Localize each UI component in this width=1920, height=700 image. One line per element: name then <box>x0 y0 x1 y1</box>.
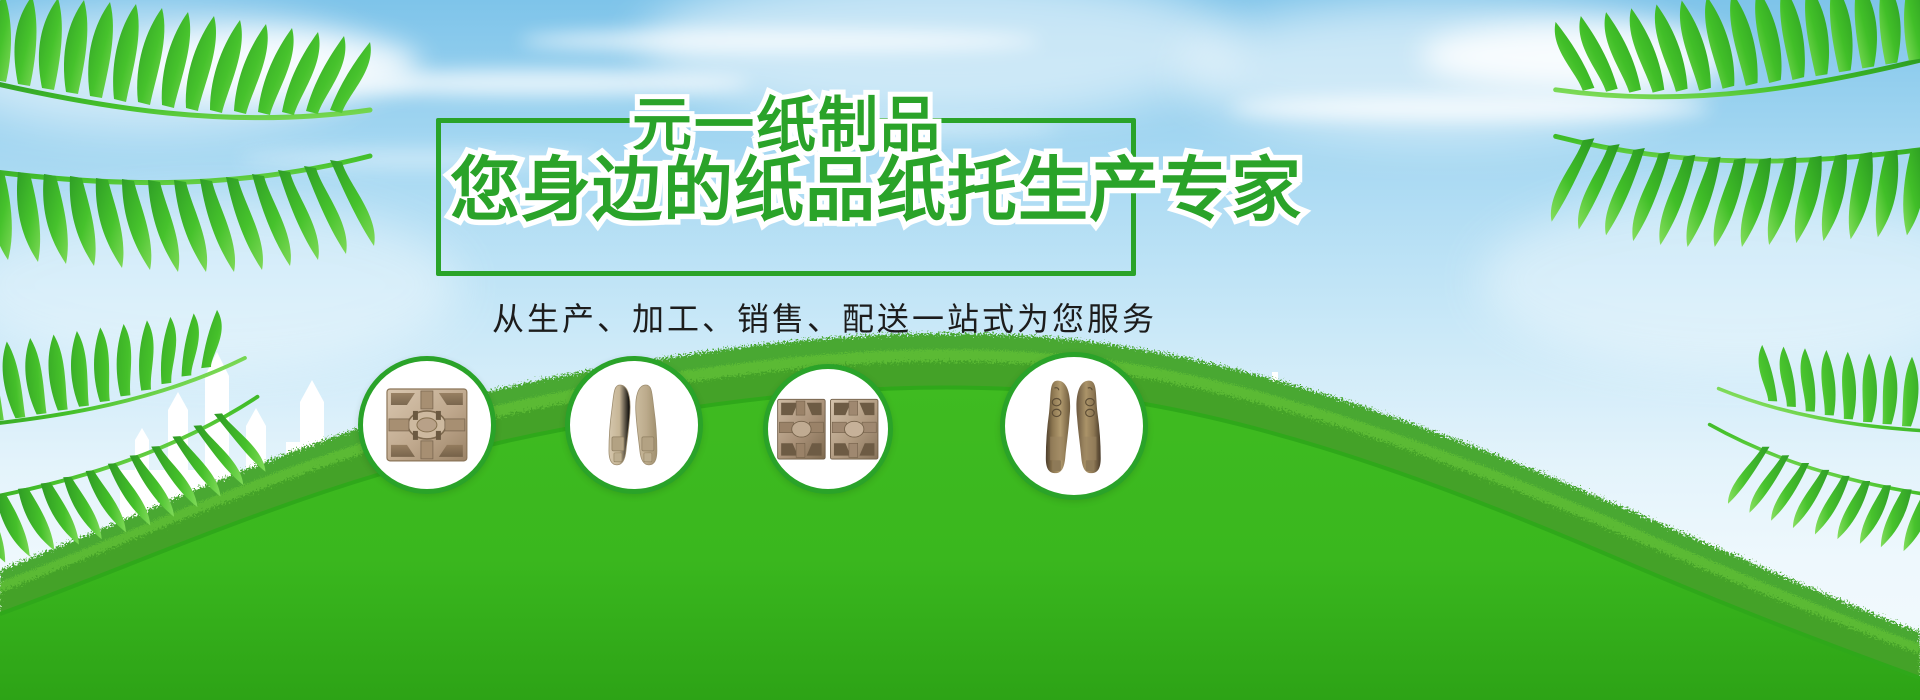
palm-frond-icon-top-right <box>1520 0 1920 280</box>
product-circle-molded-pulp-square-tray[interactable] <box>358 356 496 494</box>
headline-line-1: 元一纸制品 <box>632 96 942 156</box>
pulp-tray-icon <box>377 375 477 475</box>
headline-block: 元一纸制品 您身边的纸品纸托生产专家 从生产、加工、销售、配送一站式为您服务 <box>436 96 1146 296</box>
product-circle-paper-pulp-shoe-inserts[interactable] <box>565 356 703 494</box>
promotional-banner: 元一纸制品 您身边的纸品纸托生产专家 从生产、加工、销售、配送一站式为您服务 <box>0 0 1920 700</box>
product-circle-molded-pulp-corner-pair[interactable] <box>763 364 893 494</box>
headline-line-2: 您身边的纸品纸托生产专家 <box>450 152 1302 229</box>
product-circle-pulp-shoe-forms-dark[interactable] <box>1000 352 1148 500</box>
pulp-shoe-pair-icon <box>584 375 684 475</box>
pulp-corner-icon <box>775 392 881 466</box>
headline-subtitle: 从生产、加工、销售、配送一站式为您服务 <box>492 294 1157 340</box>
pulp-shoe-dark-icon <box>1020 372 1128 480</box>
